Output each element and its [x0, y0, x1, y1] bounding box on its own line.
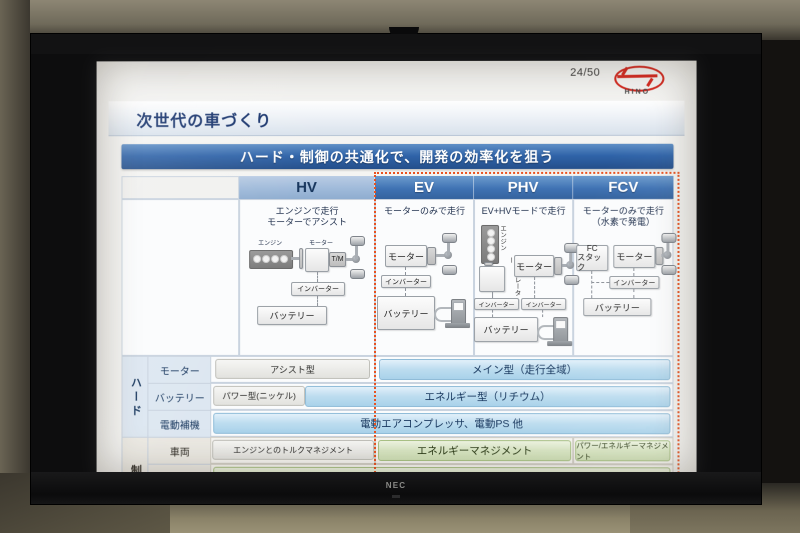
diagram-phv-motor-flange — [554, 257, 562, 275]
monitor-bottom-bezel: NEC — [31, 472, 761, 504]
subtitle-fcv: モーターのみで走行 （水素で発電） — [573, 202, 673, 229]
diagram-phv-motor: モーター — [514, 255, 554, 277]
diagram-phv-link-inv1-battery — [492, 310, 493, 317]
diagram-phv-engine-block — [481, 225, 499, 264]
diagram-hv-battery: バッテリー — [257, 306, 327, 325]
slide-title-bar: 次世代の車づくり — [109, 101, 685, 137]
diagram-phv: エンジン ジェネレーター モーター インバーター インバーター — [474, 217, 573, 356]
diagram-phv-link-inv2-battery — [542, 310, 543, 317]
matrix-corner-blank — [121, 176, 239, 199]
column-header-fcv: FCV — [573, 176, 673, 199]
subtitle-ev: モーターのみで走行 — [375, 202, 474, 217]
diagram-fcv-battery: バッテリー — [583, 298, 651, 316]
row-hard-battery-common-value: エネルギー型（リチウム） — [305, 386, 670, 407]
subtitle-phv: EV+HVモードで走行 — [474, 202, 573, 217]
diagram-hv-link-inverter-battery — [317, 296, 318, 306]
diagram-hv-motor-label: モーター — [301, 237, 341, 248]
diagram-ev-link-motor-inverter — [405, 267, 406, 275]
hino-wordmark: HINO — [608, 89, 666, 96]
subtitle-ev-line1: モーターのみで走行 — [375, 206, 474, 217]
left-wall — [0, 0, 30, 533]
diagram-fcv-fc-stack-line1: FC — [587, 244, 598, 253]
diagram-hv-wheel-top — [350, 236, 365, 246]
page-number: 24/50 — [570, 67, 600, 79]
diagram-hv-transmission: T/M — [329, 252, 346, 267]
diagram-hv: エンジン モーター T/M — [239, 231, 375, 351]
presentation-slide: 24/50 HINO 次世代の車づくり ハード・制御の共通化で、開発の効率化を狙… — [97, 61, 697, 477]
diagram-ev-wheel-top — [442, 233, 457, 243]
monitor-power-indicator — [392, 495, 400, 498]
diagram-ev-battery: バッテリー — [377, 296, 435, 330]
diagram-fcv-inverter: インバーター — [609, 276, 659, 289]
diagram-phv-link-motor-inverter — [534, 277, 535, 298]
diagram-ev-motor: モーター — [385, 245, 427, 267]
slide-banner-text: ハード・制御の共通化で、開発の効率化を狙う — [121, 144, 673, 169]
column-header-hv: HV — [239, 176, 375, 199]
row-label-control-vehicle: 車両 — [147, 437, 212, 466]
subtitle-hv: エンジンで走行 モーターでアシスト — [239, 202, 375, 229]
diagram-ev-wheel-bottom — [442, 265, 457, 275]
diagram-hv-motor — [305, 248, 329, 272]
monitor-top-bezel — [31, 34, 761, 54]
diagram-phv-battery: バッテリー — [474, 317, 538, 342]
subtitle-fcv-line2: （水素で発電） — [573, 217, 673, 228]
diagram-fcv-wheel-top — [661, 233, 676, 243]
subtitle-hv-line1: エンジンで走行 — [239, 206, 375, 217]
diagram-phv-charging-station — [547, 317, 573, 347]
diagram-fcv-wheel-bottom — [661, 265, 676, 275]
row-hard-motor-hv-value: アシスト型 — [215, 359, 370, 379]
diagram-hv-engine-block — [249, 250, 293, 269]
diagram-phv-inverter-2: インバーター — [521, 298, 566, 310]
subtitle-phv-line1: EV+HVモードで走行 — [474, 206, 573, 217]
diagram-ev-inverter: インバーター — [381, 275, 431, 288]
column-header-ev: EV — [375, 176, 474, 199]
diagram-hv-wheel-bottom — [350, 269, 365, 279]
diagram-hv-inverter: インバーター — [291, 282, 345, 296]
diagram-ev-motor-flange — [427, 247, 436, 265]
row-hard-motor-common-value: メイン型（走行全域） — [379, 359, 670, 380]
diagram-fcv-link-stack-inverter — [591, 282, 609, 283]
diagram-ev: モーター インバーター バッテリー — [375, 231, 474, 356]
monitor-brand-label: NEC — [31, 481, 761, 490]
row-control-vehicle-fcv-value: パワー/エネルギーマネジメント — [575, 440, 670, 461]
row-label-hard-motor: モーター — [147, 356, 212, 385]
diagram-ev-charging-station — [445, 299, 471, 329]
diagram-row-blank — [121, 199, 239, 356]
slide-title: 次世代の車づくり — [136, 107, 272, 131]
diagram-phv-generator — [479, 266, 505, 292]
diagram-hv-engine-label: エンジン — [251, 237, 289, 248]
subtitle-fcv-line1: モーターのみで走行 — [573, 206, 673, 217]
row-hard-aux-value: 電動エアコンプレッサ、電動PS 他 — [213, 413, 670, 434]
subtitle-hv-line2: モーターでアシスト — [239, 217, 375, 228]
diagram-fcv-link-motor-inverter — [633, 268, 634, 276]
diagram-phv-inverter-1: インバーター — [474, 298, 519, 310]
slide-screen: 24/50 HINO 次世代の車づくり ハード・制御の共通化で、開発の効率化を狙… — [97, 61, 697, 477]
hino-logo: HINO — [608, 65, 666, 101]
diagram-hv-clutch — [299, 248, 303, 269]
slide-banner: ハード・制御の共通化で、開発の効率化を狙う — [121, 144, 673, 169]
diagram-fcv-motor: モーター — [613, 245, 655, 268]
row-control-vehicle-common-value: エネルギーマネジメント — [378, 440, 571, 461]
diagram-fcv-link-inverter-battery — [633, 289, 634, 298]
diagram-fcv-fc-stack-line2: スタック — [577, 253, 607, 271]
section-label-hard: ハード — [121, 356, 149, 439]
diagram-fcv-fc-stack: FC スタック — [576, 245, 608, 271]
diagram-fcv: FC スタック モーター インバーター — [573, 231, 673, 351]
section-label-control: 制御 — [121, 437, 149, 477]
comparison-matrix: HV EV PHV FCV エンジンで走行 モーターでアシスト — [121, 176, 673, 461]
row-label-hard-battery: バッテリー — [147, 383, 212, 412]
diagram-ev-link-inverter-battery — [405, 288, 406, 296]
display-monitor: 24/50 HINO 次世代の車づくり ハード・制御の共通化で、開発の効率化を狙… — [30, 33, 762, 505]
row-control-vehicle-hv-value: エンジンとのトルクマネジメント — [212, 440, 374, 460]
diagram-phv-engine-label: エンジン — [498, 225, 505, 257]
photograph-of-presentation-screen: 24/50 HINO 次世代の車づくり ハード・制御の共通化で、開発の効率化を狙… — [0, 0, 800, 533]
column-header-phv: PHV — [474, 176, 573, 199]
row-label-hard-aux: 電動補機 — [147, 410, 212, 439]
diagram-hv-link-motor-inverter — [317, 272, 318, 282]
row-hard-battery-hv-value: パワー型(ニッケル) — [213, 386, 305, 406]
